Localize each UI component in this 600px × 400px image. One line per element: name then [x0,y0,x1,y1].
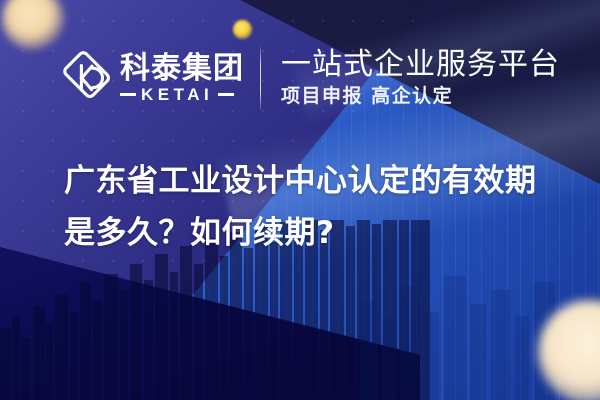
headline-line-1: 广东省工业设计中心认定的有效期 [64,155,576,207]
gold-dot-orb [233,20,252,39]
promo-banner: 科泰集团 KETAI 一站式企业服务平台 项目申报 高企认定 广东省工业设计中心… [0,0,600,400]
slogan-block: 一站式企业服务平台 项目申报 高企认定 [281,48,560,107]
wordmark-dash-right [218,93,234,96]
brand-name-cn: 科泰集团 [120,53,244,84]
vertical-divider [260,47,261,110]
banner-header: 科泰集团 KETAI 一站式企业服务平台 项目申报 高企认定 [62,42,560,114]
brand-wordmark: 科泰集团 KETAI [120,53,244,103]
ketai-diamond-kt-logo-icon [62,50,112,106]
brand-logo[interactable]: 科泰集团 KETAI [62,50,244,106]
brand-name-en: KETAI [141,86,213,103]
slogan-main: 一站式企业服务平台 [281,48,560,82]
headline-line-2: 是多久？如何续期? [64,207,576,259]
wordmark-dash-left [120,93,136,96]
brand-name-en-row: KETAI [120,86,244,103]
page-title: 广东省工业设计中心认定的有效期 是多久？如何续期? [64,155,576,259]
slogan-sub: 项目申报 高企认定 [281,85,560,108]
